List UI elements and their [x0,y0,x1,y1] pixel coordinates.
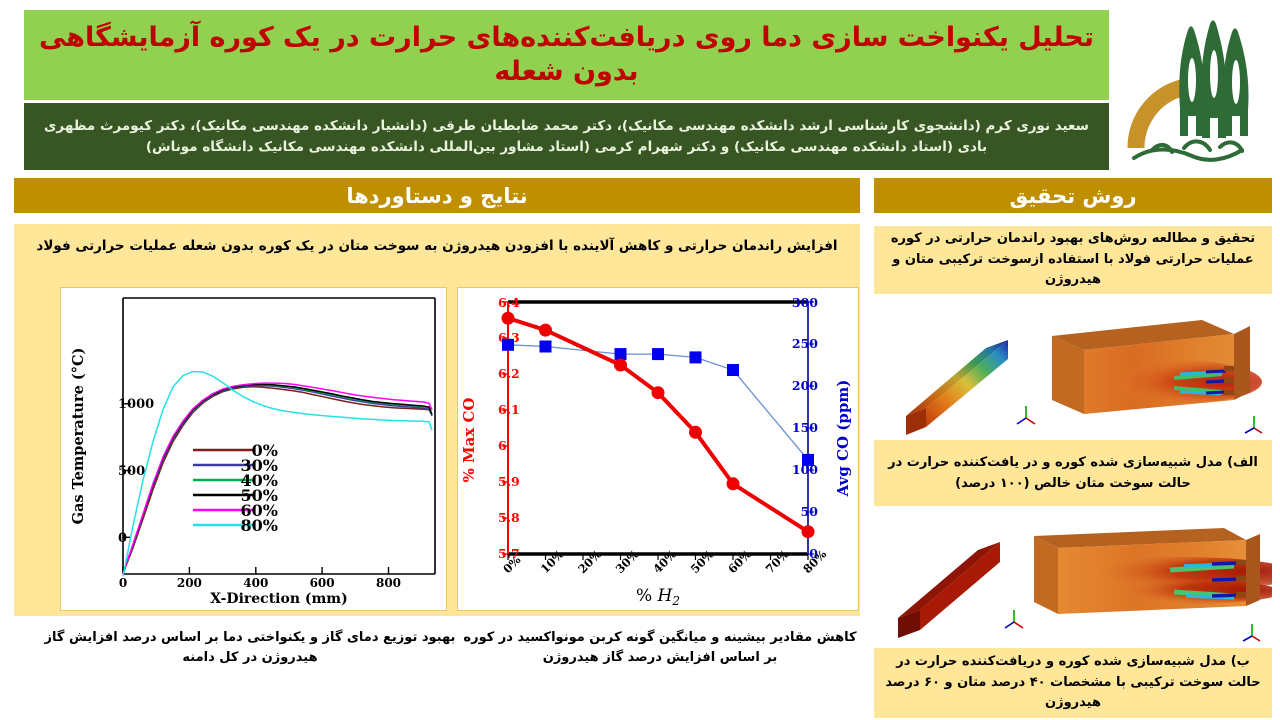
method-note-a: الف) مدل شبیه‌سازی شده کوره و در یافت‌کن… [874,440,1272,508]
co-right-axis-label: Avg CO (ppm) [834,380,852,498]
co-emissions-plot: 5.75.8 5.96 6.16.2 6.3 6.4 0 50 100150 2… [460,288,858,608]
svg-text:80%: 80% [800,547,829,576]
section-header-results: نتایج و دستاوردها [14,178,860,213]
method-note-b: ب) مدل شبیه‌سازی شده کوره و دریافت‌کننده… [874,648,1272,718]
legend-item-5: 80% [241,516,278,535]
university-logo-icon [1122,8,1272,170]
university-logo [1122,8,1272,170]
receiver-bar-b [898,542,1000,638]
axes-triad-b-left [1005,610,1023,628]
svg-text:0: 0 [119,576,127,590]
axes-triad-a-left [1017,406,1035,424]
gas-temperature-xlabel: X-Direction (mm) [210,591,348,607]
svg-text:300: 300 [792,295,818,310]
gas-temperature-plot: 0 500 1000 0 200 400 600 800 X-Direction… [63,288,446,608]
cfd-figure-a-image [874,296,1272,438]
section-header-method-label: روش تحقیق [1009,184,1136,208]
svg-text:800: 800 [376,576,401,590]
svg-text:150: 150 [792,420,818,435]
results-heading: افزایش راندمان حرارتی و کاهش آلاینده با … [14,236,860,256]
svg-text:40%: 40% [650,547,679,576]
svg-text:6.4: 6.4 [498,295,520,310]
co-xlabel: H2 % [636,586,680,608]
axes-triad-b-right [1243,624,1260,641]
gas-temperature-legend: 0% 30% 40% 50% 60% 80% [193,441,278,535]
svg-text:6.2: 6.2 [498,366,520,381]
svg-text:50: 50 [801,504,819,519]
poster-header: تحلیل یکنواخت سازی دما روی دریافت‌کننده‌… [0,0,1280,178]
svg-text:500: 500 [118,464,145,479]
section-header-results-label: نتایج و دستاوردها [346,184,527,208]
cfd-figure-b-image [874,506,1272,646]
receiver-bar-a [906,340,1008,435]
svg-text:1000: 1000 [118,397,154,412]
co-left-axis-label: Max CO % [460,398,478,483]
svg-text:6.1: 6.1 [498,402,520,417]
co-emissions-chart: 5.75.8 5.96 6.16.2 6.3 6.4 0 50 100150 2… [457,287,859,611]
svg-text:30%: 30% [613,547,642,576]
svg-text:6: 6 [498,438,507,453]
poster-author-bar: سعید نوری کرم (دانشجوی کارشناسی ارشد دان… [24,103,1109,170]
svg-text:200: 200 [792,378,818,393]
svg-text:400: 400 [243,576,268,590]
furnace-block-b [1034,528,1272,614]
svg-text:20%: 20% [575,547,604,576]
svg-text:600: 600 [310,576,335,590]
svg-text:60%: 60% [725,547,754,576]
author-list: سعید نوری کرم (دانشجوی کارشناسی ارشد دان… [24,116,1109,158]
co-avg-series [502,339,814,466]
gas-temperature-chart: 0 500 1000 0 200 400 600 800 X-Direction… [60,287,447,611]
svg-text:0: 0 [118,531,127,546]
poster-title-bar: تحلیل یکنواخت سازی دما روی دریافت‌کننده‌… [24,10,1109,100]
svg-text:10%: 10% [538,547,567,576]
svg-text:250: 250 [792,336,818,351]
gas-temperature-ylabel: Gas Temperature (°C) [70,348,87,525]
svg-text:5.8: 5.8 [498,510,520,525]
svg-text:5.9: 5.9 [498,474,520,489]
svg-text:70%: 70% [763,547,792,576]
page-title: تحلیل یکنواخت سازی دما روی دریافت‌کننده‌… [24,21,1109,89]
cfd-figure-a [874,296,1272,438]
axes-triad-a-right [1245,416,1262,433]
svg-text:50%: 50% [688,547,717,576]
caption-temperature-chart: بهبود توزیع دمای گاز و یکنواختی دما بر ا… [40,628,460,668]
furnace-block-a [1052,320,1262,414]
cfd-figure-b [874,506,1272,646]
svg-text:200: 200 [177,576,202,590]
section-header-method: روش تحقیق [874,178,1272,213]
method-goal-note: تحقیق و مطالعه روش‌های بهبود راندمان حرا… [874,226,1272,294]
caption-co-chart: کاهش مقادیر بیشینه و میانگین گونه کربن م… [455,628,865,668]
